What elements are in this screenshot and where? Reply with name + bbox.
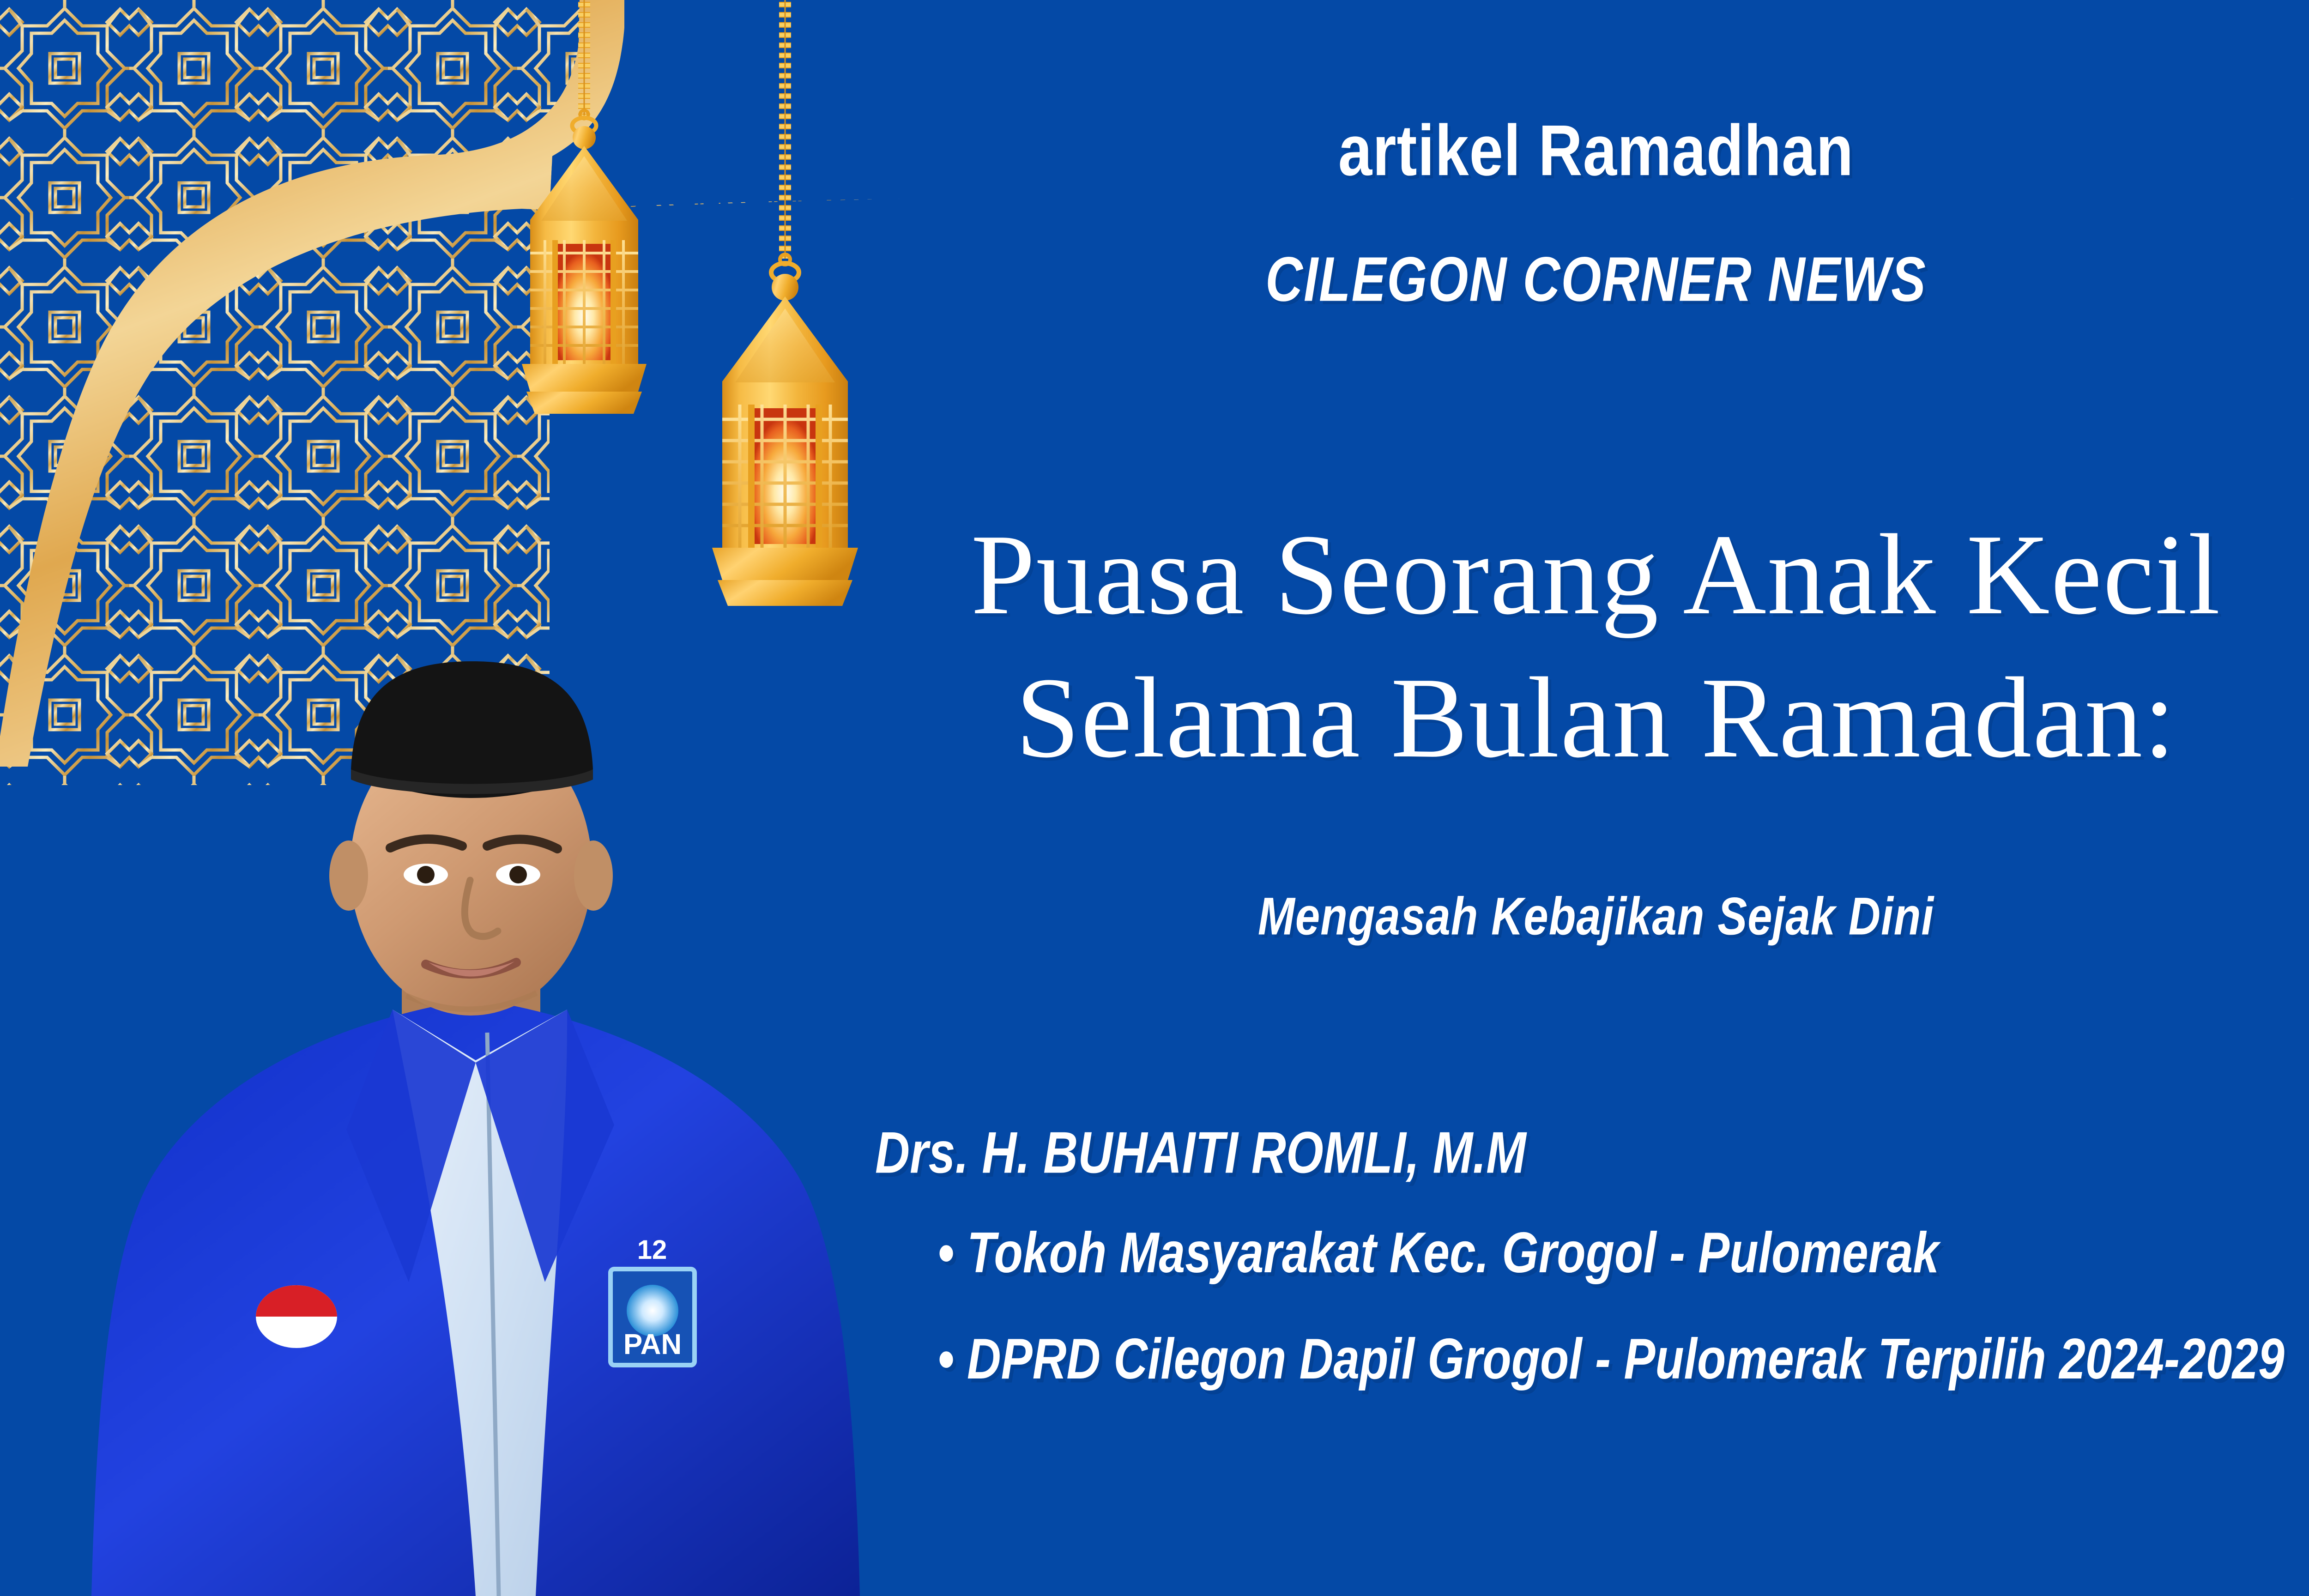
lantern-chain	[578, 0, 590, 115]
ramadan-article-poster: 12 PAN artikel Ramadhan CILEGON CORNER N…	[0, 0, 2309, 1596]
svg-text:12: 12	[637, 1235, 667, 1265]
bullet-icon: •	[937, 1330, 967, 1387]
brand-cilegon-corner-news: CILEGON CORNER NEWS	[0, 243, 2309, 315]
kicker-artikel-ramadhan: artikel Ramadhan	[0, 109, 2309, 191]
person-name: Drs. H. BUHAITI ROMLI, M.M	[875, 1120, 1526, 1187]
page-subtitle: Mengasah Kebajikan Sejak Dini	[0, 886, 2309, 947]
credential-text: Tokoh Masyarakat Kec. Grogol - Pulomerak	[967, 1221, 1939, 1285]
svg-text:PAN: PAN	[623, 1329, 682, 1360]
credential-text: DPRD Cilegon Dapil Grogol - Pulomerak Te…	[967, 1327, 2285, 1391]
person-credentials-list: •Tokoh Masyarakat Kec. Grogol - Pulomera…	[937, 1224, 2285, 1436]
list-item: •DPRD Cilegon Dapil Grogol - Pulomerak T…	[937, 1330, 2285, 1387]
page-title-line-2: Selama Bulan Ramadan:	[0, 647, 2309, 790]
bullet-icon: •	[937, 1224, 967, 1281]
indonesian-flag-pin	[256, 1285, 337, 1348]
list-item: •Tokoh Masyarakat Kec. Grogol - Pulomera…	[937, 1224, 2285, 1281]
page-title-line-1: Puasa Seorang Anak Kecil	[0, 503, 2309, 647]
